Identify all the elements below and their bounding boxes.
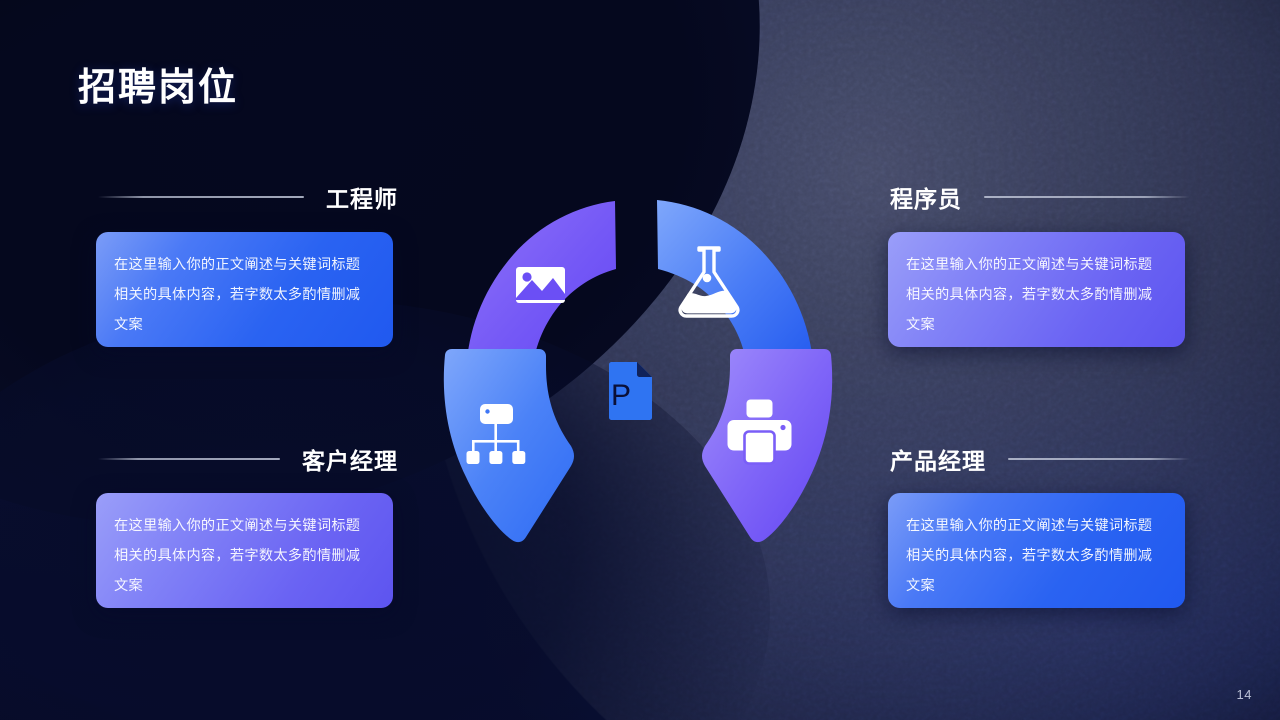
heading-row-account-manager: 客户经理 bbox=[98, 444, 398, 474]
heading-divider-line bbox=[98, 458, 280, 460]
heading-title-product-manager: 产品经理 bbox=[890, 442, 986, 476]
heading-title-engineer: 工程师 bbox=[326, 180, 398, 214]
card-body-account-manager: 在这里输入你的正文阐述与关键词标题相关的具体内容，若字数太多酌情删减文案 bbox=[114, 511, 373, 601]
petal-top-left[interactable] bbox=[466, 201, 616, 374]
slide-canvas: 招聘岗位 工程师 在这里输入你的正文阐述与关键词标题相关的具体内容，若字数太多酌… bbox=[0, 0, 1280, 720]
card-programmer[interactable]: 在这里输入你的正文阐述与关键词标题相关的具体内容，若字数太多酌情删减文案 bbox=[888, 232, 1185, 347]
heading-title-programmer: 程序员 bbox=[890, 180, 962, 214]
card-body-programmer: 在这里输入你的正文阐述与关键词标题相关的具体内容，若字数太多酌情删减文案 bbox=[906, 250, 1165, 340]
card-account-manager[interactable]: 在这里输入你的正文阐述与关键词标题相关的具体内容，若字数太多酌情删减文案 bbox=[96, 493, 393, 608]
page-number: 14 bbox=[1237, 687, 1252, 702]
heading-divider-line bbox=[1008, 458, 1190, 460]
powerpoint-document-icon[interactable]: P bbox=[606, 362, 654, 420]
card-product-manager[interactable]: 在这里输入你的正文阐述与关键词标题相关的具体内容，若字数太多酌情删减文案 bbox=[888, 493, 1185, 608]
heading-title-account-manager: 客户经理 bbox=[302, 442, 398, 476]
card-body-product-manager: 在这里输入你的正文阐述与关键词标题相关的具体内容，若字数太多酌情删减文案 bbox=[906, 511, 1165, 601]
page-title: 招聘岗位 bbox=[78, 56, 238, 111]
petal-bottom-left[interactable] bbox=[444, 349, 574, 542]
image-icon bbox=[516, 267, 565, 303]
heading-divider-line bbox=[984, 196, 1190, 198]
heading-row-product-manager: 产品经理 bbox=[890, 444, 1190, 474]
powerpoint-letter: P bbox=[611, 379, 631, 412]
card-engineer[interactable]: 在这里输入你的正文阐述与关键词标题相关的具体内容，若字数太多酌情删减文案 bbox=[96, 232, 393, 347]
card-body-engineer: 在这里输入你的正文阐述与关键词标题相关的具体内容，若字数太多酌情删减文案 bbox=[114, 250, 373, 340]
heading-divider-line bbox=[98, 196, 304, 198]
heading-row-programmer: 程序员 bbox=[890, 182, 1190, 212]
heading-row-engineer: 工程师 bbox=[98, 182, 398, 212]
petal-bottom-right[interactable] bbox=[702, 349, 832, 542]
